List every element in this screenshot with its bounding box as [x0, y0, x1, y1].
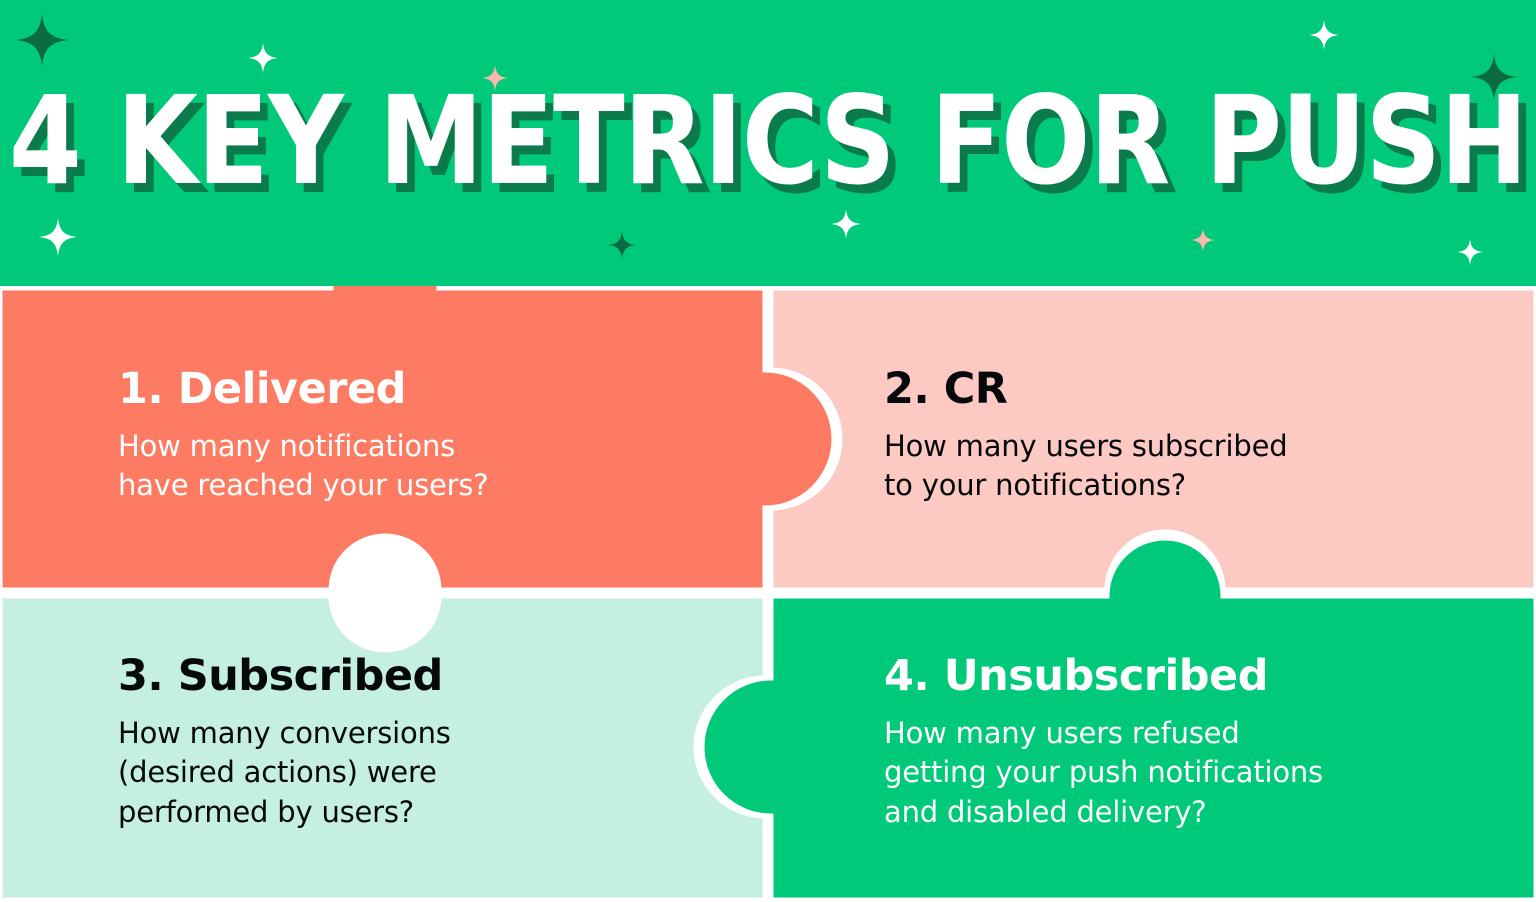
card-delivered-body: How many notifications have reached your… — [118, 427, 488, 506]
card-delivered-heading: 1. Delivered — [118, 368, 488, 411]
card-subscribed-heading: 3. Subscribed — [118, 655, 451, 698]
card-unsubscribed: 4. Unsubscribed How many users refused g… — [884, 655, 1323, 832]
card-delivered: 1. Delivered How many notifications have… — [118, 368, 488, 506]
sparkle-white-3-icon — [39, 218, 77, 256]
sparkle-dark-1-icon — [16, 14, 68, 66]
sparkle-white-5-icon — [1457, 239, 1483, 265]
page-title: 4 KEY METRICS FOR PUSH — [108, 0, 1429, 288]
card-cr: 2. CR How many users subscribed to your … — [884, 368, 1287, 506]
card-subscribed: 3. Subscribed How many conversions (desi… — [118, 655, 451, 832]
card-cr-heading: 2. CR — [884, 368, 1287, 411]
card-cr-body: How many users subscribed to your notifi… — [884, 427, 1287, 506]
card-unsubscribed-heading: 4. Unsubscribed — [884, 655, 1323, 698]
card-unsubscribed-body: How many users refused getting your push… — [884, 714, 1323, 832]
infographic-root: 4 KEY METRICS FOR PUSH 1. Delivered How … — [0, 0, 1536, 902]
card-subscribed-body: How many conversions (desired actions) w… — [118, 714, 451, 832]
header-banner: 4 KEY METRICS FOR PUSH — [0, 0, 1536, 288]
